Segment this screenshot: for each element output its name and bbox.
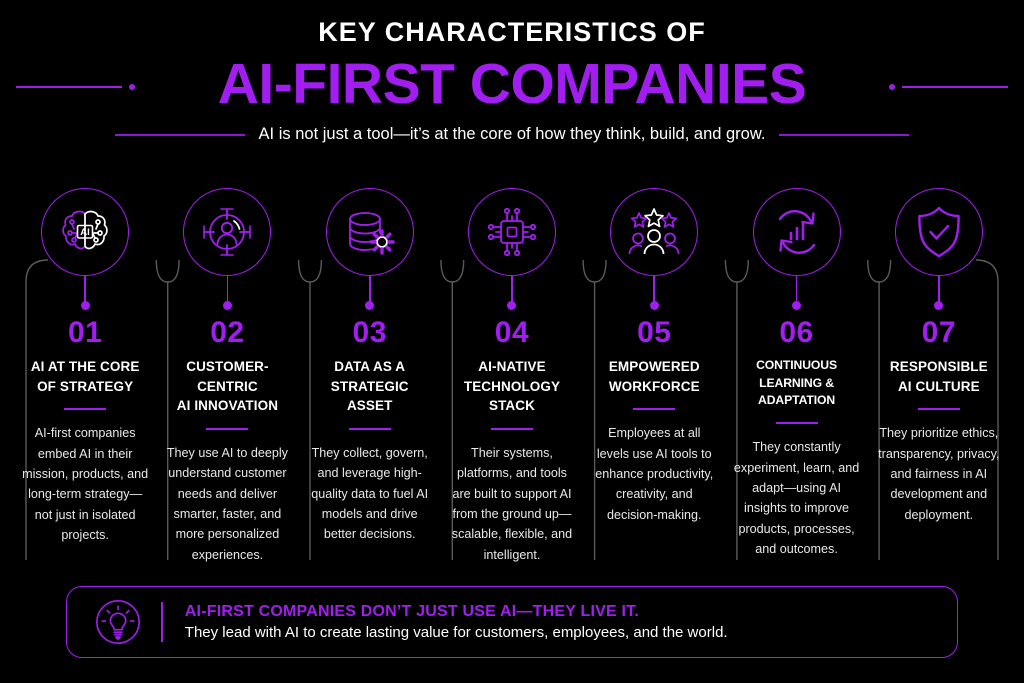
subtitle-row: AI is not just a tool—it’s at the core o…	[0, 125, 1024, 144]
svg-text:AI: AI	[80, 227, 90, 238]
title-row: AI-FIRST COMPANIES	[0, 50, 1024, 118]
title-underline	[491, 428, 533, 430]
title-line-2: TECHNOLOGY STACK	[464, 379, 560, 414]
title-line-1: AI-NATIVE	[478, 359, 545, 374]
characteristic-description: They use AI to deeply understand custome…	[164, 443, 290, 565]
deco-line-right	[902, 86, 1008, 88]
characteristic-title: CONTINUOUS LEARNING & ADAPTATION	[733, 357, 859, 410]
footer-headline: AI-FIRST COMPANIES DON’T JUST USE AI—THE…	[185, 603, 728, 621]
characteristic-title: CUSTOMER-CENTRIC AI INNOVATION	[164, 357, 290, 416]
characteristic-number: 07	[922, 318, 956, 348]
characteristic-column-4[interactable]: 04 AI-NATIVE TECHNOLOGY STACK Their syst…	[441, 186, 583, 566]
header: KEY CHARACTERISTICS OF AI-FIRST COMPANIE…	[0, 0, 1024, 144]
connector-dot	[792, 301, 801, 310]
footer-text: AI-FIRST COMPANIES DON’T JUST USE AI—THE…	[185, 603, 728, 641]
title-underline	[633, 408, 675, 410]
title-line-2: OF STRATEGY	[37, 379, 133, 394]
title-line-1: RESPONSIBLE	[890, 359, 988, 374]
deco-dot-right	[889, 84, 895, 90]
connector-dot	[650, 301, 659, 310]
connector-dot	[934, 301, 943, 310]
characteristic-number: 05	[637, 318, 671, 348]
title-line-1: AI AT THE CORE	[31, 359, 140, 374]
characteristic-description: They collect, govern, and leverage high-…	[307, 443, 433, 545]
lightbulb-icon	[93, 597, 143, 647]
connector-dot	[81, 301, 90, 310]
characteristic-title: AI AT THE CORE OF STRATEGY	[31, 357, 140, 396]
characteristic-title: EMPOWERED WORKFORCE	[609, 357, 700, 396]
header-decoration-left	[16, 84, 135, 90]
connector-dot	[223, 301, 232, 310]
title-underline	[206, 428, 248, 430]
connector-stem	[796, 276, 798, 302]
title-underline	[918, 408, 960, 410]
connector-stem	[227, 276, 229, 302]
characteristic-description: Their systems, platforms, and tools are …	[449, 443, 575, 565]
connector-stem	[511, 276, 513, 302]
title-line-1: EMPOWERED	[609, 359, 700, 374]
brain-ai-icon: AI	[41, 188, 129, 276]
characteristic-column-3[interactable]: 03 DATA AS A STRATEGIC ASSET They collec…	[299, 186, 441, 566]
people-stars-icon	[610, 188, 698, 276]
characteristic-number: 03	[353, 318, 387, 348]
characteristic-number: 01	[68, 318, 102, 348]
connector-stem	[369, 276, 371, 302]
characteristic-description: They prioritize ethics, transparency, pr…	[876, 423, 1002, 525]
connector-stem	[653, 276, 655, 302]
characteristic-column-7[interactable]: 07 RESPONSIBLE AI CULTURE They prioritiz…	[868, 186, 1010, 566]
title-line-2: AI CULTURE	[898, 379, 980, 394]
shield-check-icon	[895, 188, 983, 276]
connector-dot	[365, 301, 374, 310]
deco-line-left	[16, 86, 122, 88]
characteristic-description: They constantly experiment, learn, and a…	[733, 437, 859, 559]
subtitle-line-right	[779, 134, 909, 136]
characteristic-description: Employees at all levels use AI tools to …	[591, 423, 717, 525]
characteristic-title: AI-NATIVE TECHNOLOGY STACK	[449, 357, 575, 416]
customer-target-icon	[183, 188, 271, 276]
title-line-2: STRATEGIC ASSET	[331, 379, 409, 414]
page-title: AI-FIRST COMPANIES	[218, 56, 806, 113]
title-line-2: LEARNING & ADAPTATION	[758, 376, 835, 408]
characteristic-description: AI-first companies embed AI in their mis…	[22, 423, 148, 545]
characteristic-column-6[interactable]: 06 CONTINUOUS LEARNING & ADAPTATION They…	[725, 186, 867, 566]
title-underline	[64, 408, 106, 410]
footer-banner: AI-FIRST COMPANIES DON’T JUST USE AI—THE…	[66, 586, 958, 658]
infographic-page: KEY CHARACTERISTICS OF AI-FIRST COMPANIE…	[0, 0, 1024, 683]
subtitle-line-left	[115, 134, 245, 136]
title-line-1: CUSTOMER-CENTRIC	[186, 359, 268, 394]
deco-dot-left	[129, 84, 135, 90]
title-underline	[776, 422, 818, 424]
connector-dot	[507, 301, 516, 310]
title-line-2: AI INNOVATION	[177, 398, 278, 413]
characteristics-row: AI 01 AI AT THE CORE OF STRATEGY AI-firs…	[14, 186, 1010, 566]
database-gear-icon	[326, 188, 414, 276]
characteristic-title: RESPONSIBLE AI CULTURE	[890, 357, 988, 396]
header-kicker: KEY CHARACTERISTICS OF	[0, 18, 1024, 46]
header-subtitle: AI is not just a tool—it’s at the core o…	[259, 125, 766, 144]
characteristic-number: 02	[210, 318, 244, 348]
connector-stem	[84, 276, 86, 302]
characteristic-column-2[interactable]: 02 CUSTOMER-CENTRIC AI INNOVATION They u…	[156, 186, 298, 566]
header-decoration-right	[889, 84, 1008, 90]
title-underline	[349, 428, 391, 430]
characteristic-number: 06	[779, 318, 813, 348]
characteristic-number: 04	[495, 318, 529, 348]
characteristic-column-5[interactable]: 05 EMPOWERED WORKFORCE Employees at all …	[583, 186, 725, 566]
footer-subline: They lead with AI to create lasting valu…	[185, 624, 728, 641]
connector-stem	[938, 276, 940, 302]
refresh-chart-icon	[753, 188, 841, 276]
title-line-1: CONTINUOUS	[756, 358, 837, 372]
title-line-1: DATA AS A	[334, 359, 405, 374]
characteristic-column-1[interactable]: AI 01 AI AT THE CORE OF STRATEGY AI-firs…	[14, 186, 156, 566]
characteristic-title: DATA AS A STRATEGIC ASSET	[307, 357, 433, 416]
cpu-chip-icon	[468, 188, 556, 276]
title-line-2: WORKFORCE	[609, 379, 700, 394]
footer-divider	[161, 602, 163, 642]
